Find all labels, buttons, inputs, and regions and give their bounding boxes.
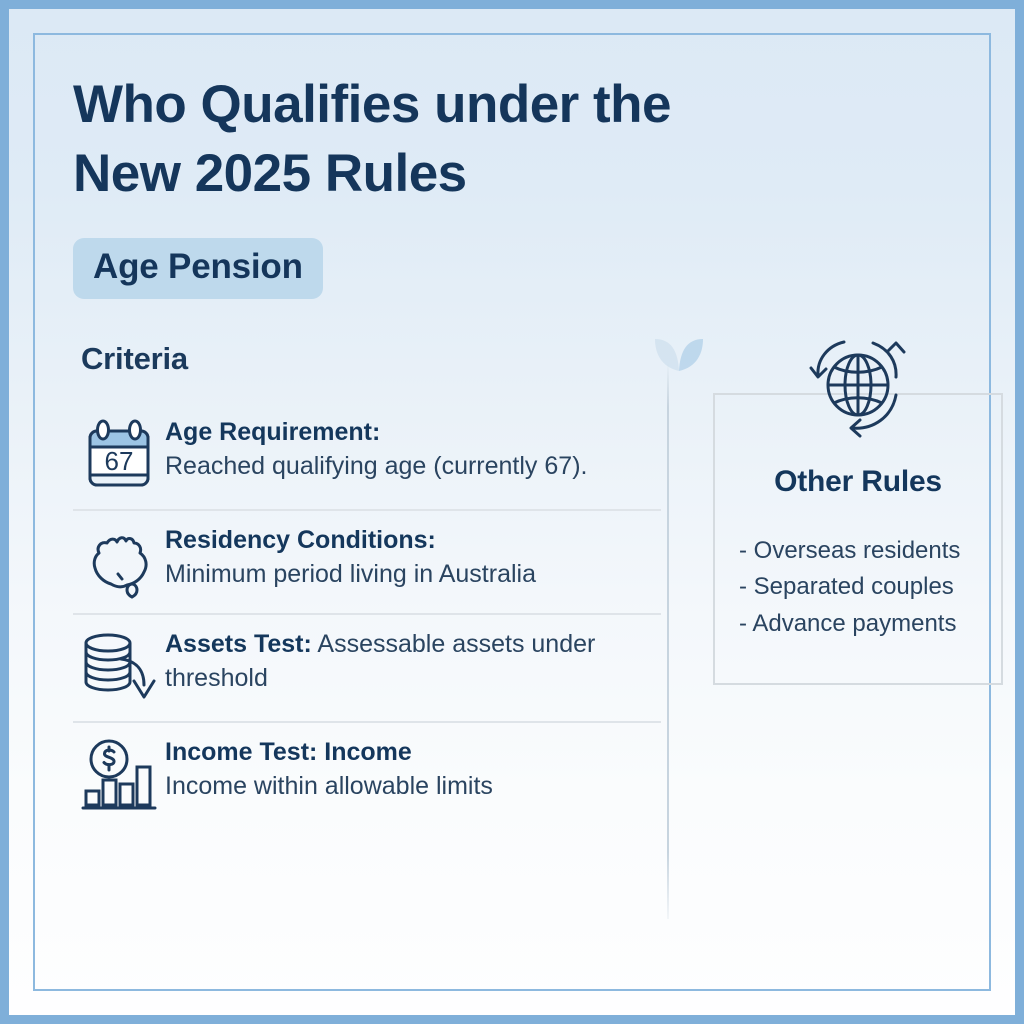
criteria-item-residency-description: Minimum period living in Australia (165, 560, 536, 588)
calendar-67-icon: 67 (73, 413, 165, 495)
criteria-heading: Criteria (81, 341, 661, 377)
criteria-item-assets-text: Assets Test: Assessable assets under thr… (165, 625, 661, 696)
criteria-item-age-text: Age Requirement: Reached qualifying age … (165, 413, 661, 484)
criteria-item-residency-text: Residency Conditions: Minimum period liv… (165, 521, 661, 592)
criteria-item-assets-label: Assets Test: (165, 630, 312, 658)
other-rules-column: Other Rules - Overseas residents - Separ… (713, 341, 1003, 685)
coin-stack-arrow-icon (73, 625, 165, 707)
other-rule-item: - Advance payments (729, 606, 987, 642)
criteria-item-age: 67 Age Requirement: Reached qualifying a… (73, 403, 661, 509)
other-rule-item: - Overseas residents (729, 533, 987, 569)
category-badge: Age Pension (73, 238, 323, 299)
criteria-item-residency-label: Residency Conditions: (165, 523, 661, 557)
dollar-bar-chart-icon (73, 733, 165, 811)
infographic-poster: Who Qualifies under the New 2025 Rules A… (0, 0, 1024, 1024)
criteria-item-income: Income Test: Income Income within allowa… (73, 721, 661, 825)
criteria-column: Criteria 67 Age Requi (73, 341, 661, 825)
criteria-item-income-description: Income within allowable limits (165, 772, 493, 800)
australia-map-icon (73, 521, 165, 599)
poster-content: Who Qualifies under the New 2025 Rules A… (33, 33, 991, 991)
other-rules-title: Other Rules (729, 465, 987, 499)
other-rule-item: - Separated couples (729, 569, 987, 605)
page-title: Who Qualifies under the New 2025 Rules (73, 71, 763, 209)
body-columns: Criteria 67 Age Requi (73, 341, 951, 825)
criteria-item-age-description: Reached qualifying age (currently 67). (165, 452, 587, 480)
globe-refresh-icon (797, 333, 919, 450)
criteria-item-income-label: Income Test: Income (165, 735, 661, 769)
criteria-item-income-text: Income Test: Income Income within allowa… (165, 733, 661, 804)
column-divider (667, 363, 669, 919)
criteria-item-assets: Assets Test: Assessable assets under thr… (73, 613, 661, 721)
calendar-age-value: 67 (105, 446, 134, 476)
criteria-item-residency: Residency Conditions: Minimum period liv… (73, 509, 661, 613)
criteria-item-age-label: Age Requirement: (165, 415, 661, 449)
